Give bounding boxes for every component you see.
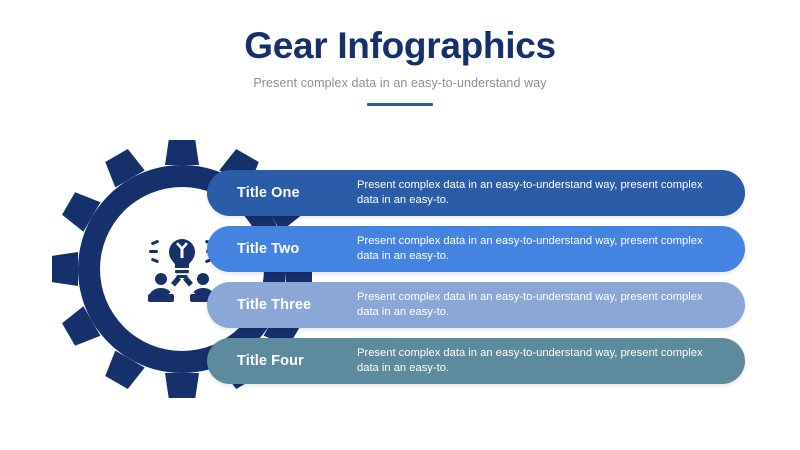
bar-description-4: Present complex data in an easy-to-under…: [357, 346, 745, 376]
bar-item-3[interactable]: Title Three Present complex data in an e…: [207, 282, 745, 328]
bar-title-4: Title Four: [207, 353, 357, 369]
page-subtitle: Present complex data in an easy-to-under…: [0, 76, 800, 90]
bar-item-4[interactable]: Title Four Present complex data in an ea…: [207, 338, 745, 384]
page-title: Gear Infographics: [0, 26, 800, 67]
bar-item-1[interactable]: Title One Present complex data in an eas…: [207, 170, 745, 216]
bar-description-3: Present complex data in an easy-to-under…: [357, 290, 745, 320]
bar-title-1: Title One: [207, 185, 357, 201]
header: Gear Infographics Present complex data i…: [0, 26, 800, 106]
bar-description-1: Present complex data in an easy-to-under…: [357, 178, 745, 208]
bar-title-3: Title Three: [207, 297, 357, 313]
bar-description-2: Present complex data in an easy-to-under…: [357, 234, 745, 264]
bars-list: Title One Present complex data in an eas…: [207, 170, 745, 384]
bar-title-2: Title Two: [207, 241, 357, 257]
title-underline-accent: [367, 103, 433, 106]
infographic-slide: Gear Infographics Present complex data i…: [0, 0, 800, 450]
bar-item-2[interactable]: Title Two Present complex data in an eas…: [207, 226, 745, 272]
